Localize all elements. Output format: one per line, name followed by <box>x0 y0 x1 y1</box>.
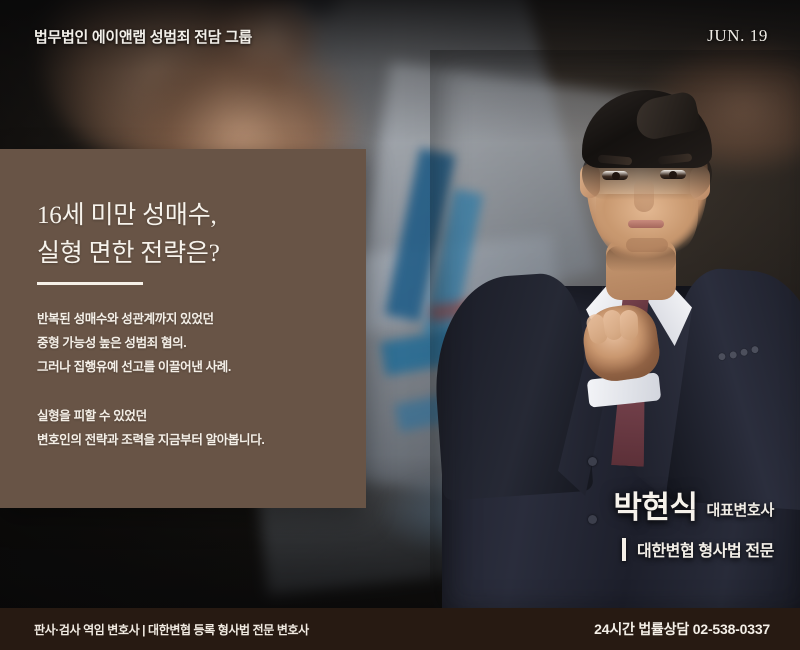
firm-name: 법무법인 에이앤랩 성범죄 전담 그룹 <box>34 26 252 47</box>
headline-divider <box>37 282 143 285</box>
body-line: 변호인의 전략과 조력을 지금부터 알아봅니다. <box>37 428 347 452</box>
nose <box>634 178 654 212</box>
top-header: 법무법인 에이앤랩 성범죄 전담 그룹 JUN. 19 <box>0 0 800 72</box>
lawyer-title: 대표변호사 <box>706 499 774 523</box>
headline-panel: 16세 미만 성매수, 실형 면한 전략은? 반복된 성매수와 성관계까지 있었… <box>0 149 366 508</box>
footer-consult-phone[interactable]: 24시간 법률상담 02-538-0337 <box>594 619 770 639</box>
jacket-button <box>588 457 597 466</box>
name-row: 박현식 대표변호사 <box>474 492 774 523</box>
lawyer-name-block: 박현식 대표변호사 대한변협 형사법 전문 <box>474 492 774 561</box>
footer-bar: 판사·검사 역임 변호사 | 대한변협 등록 형사법 전문 변호사 24시간 법… <box>0 608 800 650</box>
pupil-left <box>612 172 620 180</box>
headline-line-1: 16세 미만 성매수, <box>37 202 217 229</box>
chin-shadow <box>626 238 668 252</box>
pupil-right <box>669 171 677 179</box>
body-paragraph-1: 반복된 성매수와 성관계까지 있었던 중형 가능성 높은 성범죄 혐의. 그러나… <box>37 307 347 379</box>
mouth <box>628 220 664 228</box>
body-line: 실형을 피할 수 있었던 <box>37 404 347 428</box>
headline-line-2: 실형 면한 전략은? <box>37 235 337 273</box>
body-line: 그러나 집행유예 선고를 이끌어낸 사례. <box>37 355 347 379</box>
headline: 16세 미만 성매수, 실형 면한 전략은? <box>37 197 337 273</box>
footer-credentials: 판사·검사 역임 변호사 | 대한변협 등록 형사법 전문 변호사 <box>34 621 309 638</box>
body-line: 중형 가능성 높은 성범죄 혐의. <box>37 331 347 355</box>
finger <box>619 310 638 341</box>
promo-card: 법무법인 에이앤랩 성범죄 전담 그룹 JUN. 19 16세 미만 성매수, … <box>0 0 800 650</box>
body-paragraph-2: 실형을 피할 수 있었던 변호인의 전략과 조력을 지금부터 알아봅니다. <box>37 404 347 452</box>
body-line: 반복된 성매수와 성관계까지 있었던 <box>37 307 347 331</box>
vertical-bar-icon <box>622 538 626 561</box>
lawyer-name: 박현식 <box>613 492 697 523</box>
date-label: JUN. 19 <box>707 26 768 46</box>
specialty-label: 대한변협 형사법 전문 <box>637 537 774 561</box>
specialty-row: 대한변협 형사법 전문 <box>474 537 774 561</box>
